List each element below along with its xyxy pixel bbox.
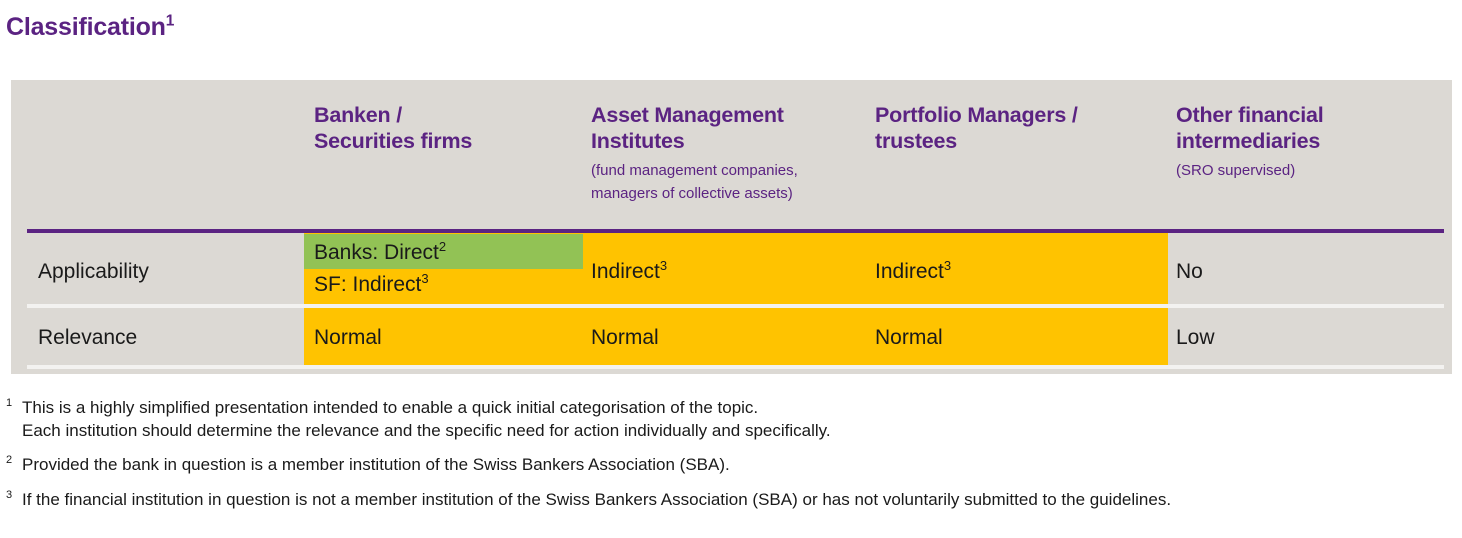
column-header-banken-line1: Banken / bbox=[314, 102, 584, 128]
row-label-relevance: Relevance bbox=[38, 325, 137, 351]
cell-applicability-banken-line2: SF: Indirect3 bbox=[314, 272, 429, 298]
column-header-asset-management: Asset Management Institutes (fund manage… bbox=[591, 102, 871, 205]
footnote-2-line1: Provided the bank in question is a membe… bbox=[22, 453, 730, 476]
column-header-other-intermediaries: Other financial intermediaries (SRO supe… bbox=[1176, 102, 1446, 182]
cell-relevance-portfolio-managers: Normal bbox=[875, 325, 943, 351]
page-title-footnote-marker: 1 bbox=[166, 13, 174, 30]
column-header-asset-management-sub-line1: (fund management companies, bbox=[591, 159, 871, 182]
cell-applicability-portfolio-managers-marker: 3 bbox=[944, 258, 951, 273]
column-header-banken-line2: Securities firms bbox=[314, 128, 584, 154]
column-header-asset-management-line2: Institutes bbox=[591, 128, 871, 154]
column-header-portfolio-managers-line1: Portfolio Managers / bbox=[875, 102, 1170, 128]
footnote-1: 1This is a highly simplified presentatio… bbox=[6, 396, 1456, 442]
column-header-banken: Banken / Securities firms bbox=[314, 102, 584, 154]
cell-applicability-asset-management-text: Indirect bbox=[591, 260, 660, 283]
cell-applicability-other-intermediaries: No bbox=[1176, 259, 1203, 285]
cell-applicability-portfolio-managers: Indirect3 bbox=[875, 259, 951, 285]
footnote-1-line2: Each institution should determine the re… bbox=[22, 419, 1456, 442]
page-title: Classification1 bbox=[6, 13, 174, 42]
row-label-applicability: Applicability bbox=[38, 259, 149, 285]
column-header-asset-management-line1: Asset Management bbox=[591, 102, 871, 128]
column-header-other-intermediaries-line1: Other financial bbox=[1176, 102, 1446, 128]
page-title-text: Classification bbox=[6, 13, 166, 41]
cell-relevance-banken: Normal bbox=[314, 325, 382, 351]
cell-applicability-banken-line2-text: SF: Indirect bbox=[314, 273, 421, 296]
footnotes: 1This is a highly simplified presentatio… bbox=[6, 396, 1456, 511]
highlight-band-relevance bbox=[304, 308, 1168, 365]
column-header-portfolio-managers-line2: trustees bbox=[875, 128, 1170, 154]
cell-applicability-asset-management: Indirect3 bbox=[591, 259, 667, 285]
column-header-asset-management-sub-line2: managers of collective assets) bbox=[591, 182, 871, 205]
cell-applicability-banken-line2-marker: 3 bbox=[421, 271, 428, 286]
cell-applicability-banken-line1-marker: 2 bbox=[439, 239, 446, 254]
cell-applicability-portfolio-managers-text: Indirect bbox=[875, 260, 944, 283]
cell-relevance-other-intermediaries: Low bbox=[1176, 325, 1215, 351]
column-header-other-intermediaries-sub-line1: (SRO supervised) bbox=[1176, 159, 1446, 182]
classification-table: Banken / Securities firms Asset Manageme… bbox=[11, 80, 1452, 374]
cell-applicability-asset-management-marker: 3 bbox=[660, 258, 667, 273]
cell-applicability-banken-line1: Banks: Direct2 bbox=[314, 240, 446, 266]
footnote-3-line1: If the financial institution in question… bbox=[22, 488, 1171, 511]
cell-relevance-asset-management: Normal bbox=[591, 325, 659, 351]
column-header-other-intermediaries-line2: intermediaries bbox=[1176, 128, 1446, 154]
row-separator-2 bbox=[27, 365, 1444, 369]
footnote-3: 3If the financial institution in questio… bbox=[6, 488, 1456, 511]
footnote-2: 2Provided the bank in question is a memb… bbox=[6, 453, 1456, 476]
cell-applicability-banken-line1-text: Banks: Direct bbox=[314, 241, 439, 264]
footnote-1-line1: This is a highly simplified presentation… bbox=[22, 396, 758, 419]
row-separator-1 bbox=[27, 304, 1444, 308]
column-header-portfolio-managers: Portfolio Managers / trustees bbox=[875, 102, 1170, 154]
